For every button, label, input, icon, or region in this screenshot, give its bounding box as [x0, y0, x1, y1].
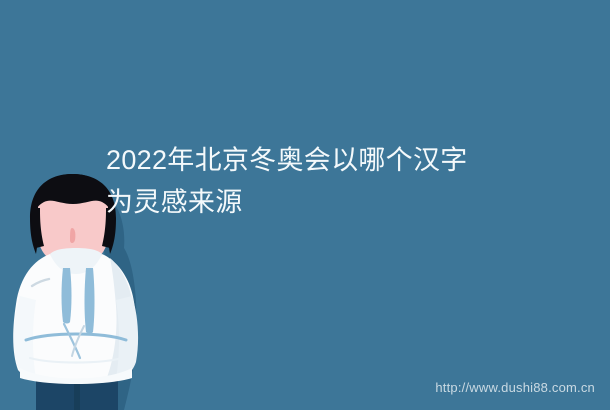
hoodie-group [13, 248, 138, 384]
page-title-line-2: 为灵感来源 [106, 181, 576, 223]
image-canvas: 2022年北京冬奥会以哪个汉字 为灵感来源 http://www.dushi88… [0, 0, 610, 410]
page-title-line-1: 2022年北京冬奥会以哪个汉字 [106, 139, 576, 181]
watermark-url: http://www.dushi88.com.cn [435, 380, 595, 396]
page-title: 2022年北京冬奥会以哪个汉字 为灵感来源 [106, 139, 576, 223]
